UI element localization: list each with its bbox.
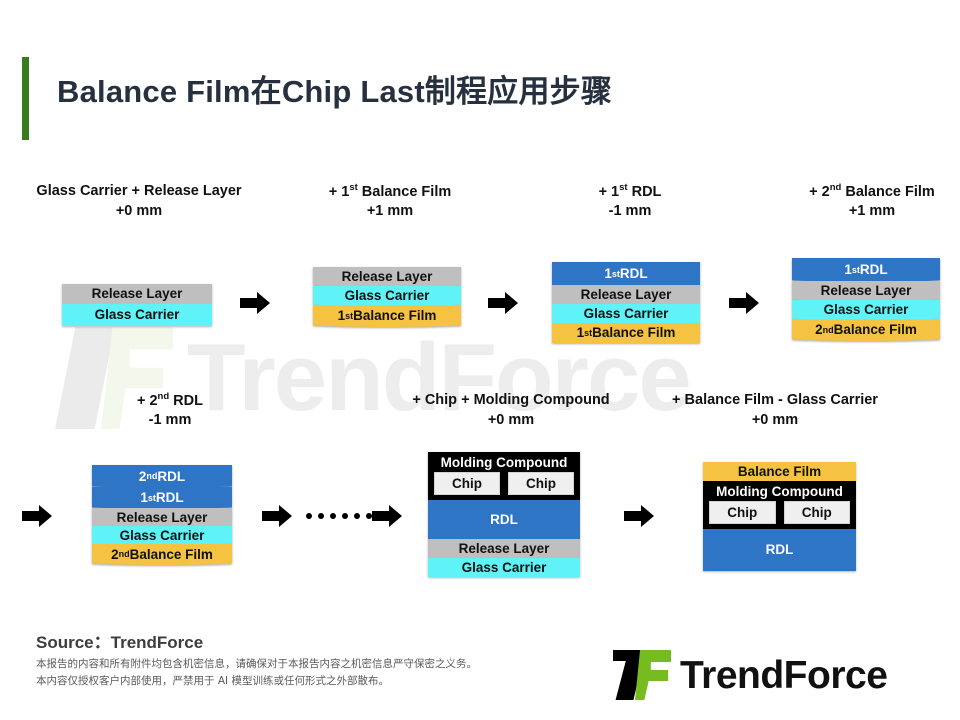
layer-glass-carrier: Glass Carrier	[428, 558, 580, 577]
stack-2: Release Layer Glass Carrier 1st Balance …	[313, 267, 461, 326]
ellipsis-indicator	[306, 513, 372, 519]
layer-release-layer: Release Layer	[92, 508, 232, 527]
stack-5: 2nd RDL 1st RDL Release Layer Glass Carr…	[92, 465, 232, 564]
step-caption-5: + 2nd RDL -1 mm	[80, 391, 260, 431]
step-3-label: + 1st RDL	[599, 184, 662, 200]
layer-balance-film-2: 2nd Balance Film	[792, 319, 940, 341]
layer-rdl-1: 1st RDL	[92, 487, 232, 509]
step-4-delta: +1 mm	[772, 202, 960, 222]
layer-release-layer: Release Layer	[428, 539, 580, 558]
layer-molding-compound: Molding Compound Chip Chip	[703, 481, 856, 529]
layer-release-layer: Release Layer	[792, 281, 940, 301]
arrow-icon-4	[22, 505, 52, 527]
arrow-icon-6	[372, 505, 402, 527]
molding-compound-label: Molding Compound	[428, 452, 580, 472]
layer-release-layer: Release Layer	[552, 285, 700, 305]
layer-balance-film-1: 1st Balance Film	[313, 305, 461, 327]
arrow-icon-2	[488, 292, 518, 314]
stack-6: Molding Compound Chip Chip RDL Release L…	[428, 452, 580, 577]
step-caption-4: + 2nd Balance Film +1 mm	[772, 182, 960, 222]
stack-4: 1st RDL Release Layer Glass Carrier 2nd …	[792, 258, 940, 340]
molding-compound-label: Molding Compound	[703, 481, 856, 501]
arrow-icon-7	[624, 505, 654, 527]
step-1-label: Glass Carrier + Release Layer	[36, 183, 241, 199]
layer-rdl: RDL	[703, 529, 856, 571]
disclaimer-line-2: 本内容仅授权客户内部使用，严禁用于 AI 模型训练或任何形式之外部散布。	[36, 673, 389, 688]
title-accent-bar	[22, 57, 29, 140]
page-title: Balance Film在Chip Last制程应用步骤	[57, 66, 612, 111]
step-3-delta: -1 mm	[540, 202, 720, 222]
layer-release-layer: Release Layer	[313, 267, 461, 287]
step-6-label: + Chip + Molding Compound	[412, 392, 609, 408]
step-5-label: + 2nd RDL	[137, 393, 203, 409]
chip-box: Chip	[508, 472, 574, 495]
layer-molding-compound: Molding Compound Chip Chip	[428, 452, 580, 500]
step-6-delta: +0 mm	[395, 411, 627, 431]
step-2-label: + 1st Balance Film	[329, 184, 452, 200]
layer-rdl-2: 2nd RDL	[92, 465, 232, 488]
stack-7: Balance Film Molding Compound Chip Chip …	[703, 462, 856, 571]
layer-release-layer: Release Layer	[62, 284, 212, 304]
layer-rdl-1: 1st RDL	[552, 262, 700, 286]
stack-1: Release Layer Glass Carrier	[62, 284, 212, 326]
layer-glass-carrier: Glass Carrier	[62, 304, 212, 326]
chip-box: Chip	[434, 472, 500, 495]
chip-row: Chip Chip	[703, 501, 856, 529]
layer-glass-carrier: Glass Carrier	[792, 300, 940, 320]
step-caption-2: + 1st Balance Film +1 mm	[290, 182, 490, 222]
step-4-label: + 2nd Balance Film	[809, 184, 935, 200]
chip-box: Chip	[784, 501, 851, 524]
logo-wordmark: TrendForce	[680, 656, 887, 695]
layer-glass-carrier: Glass Carrier	[552, 304, 700, 324]
layer-balance-film: Balance Film	[703, 462, 856, 481]
chip-box: Chip	[709, 501, 776, 524]
arrow-icon-1	[240, 292, 270, 314]
step-7-delta: +0 mm	[660, 411, 890, 431]
step-7-label: + Balance Film - Glass Carrier	[672, 392, 878, 408]
layer-balance-film-2: 2nd Balance Film	[92, 544, 232, 565]
layer-rdl-1: 1st RDL	[792, 258, 940, 282]
arrow-icon-3	[729, 292, 759, 314]
disclaimer-line-1: 本报告的内容和所有附件均包含机密信息，请确保对于本报告内容之机密信息严守保密之义…	[36, 656, 477, 671]
layer-rdl: RDL	[428, 500, 580, 539]
trendforce-logo-mark	[613, 650, 671, 700]
step-5-delta: -1 mm	[80, 411, 260, 431]
arrow-icon-5	[262, 505, 292, 527]
stack-3: 1st RDL Release Layer Glass Carrier 1st …	[552, 262, 700, 342]
step-1-delta: +0 mm	[32, 202, 246, 222]
chip-row: Chip Chip	[428, 472, 580, 500]
layer-glass-carrier: Glass Carrier	[92, 526, 232, 545]
step-caption-7: + Balance Film - Glass Carrier +0 mm	[660, 391, 890, 430]
step-2-delta: +1 mm	[290, 202, 490, 222]
step-caption-3: + 1st RDL -1 mm	[540, 182, 720, 222]
step-caption-1: Glass Carrier + Release Layer +0 mm	[32, 182, 246, 221]
source-label: Source：TrendForce	[36, 628, 203, 653]
trendforce-logo: TrendForce	[613, 650, 887, 700]
logo-f-shape	[635, 650, 671, 700]
layer-glass-carrier: Glass Carrier	[313, 286, 461, 306]
step-caption-6: + Chip + Molding Compound +0 mm	[395, 391, 627, 430]
layer-balance-film-1: 1st Balance Film	[552, 323, 700, 343]
